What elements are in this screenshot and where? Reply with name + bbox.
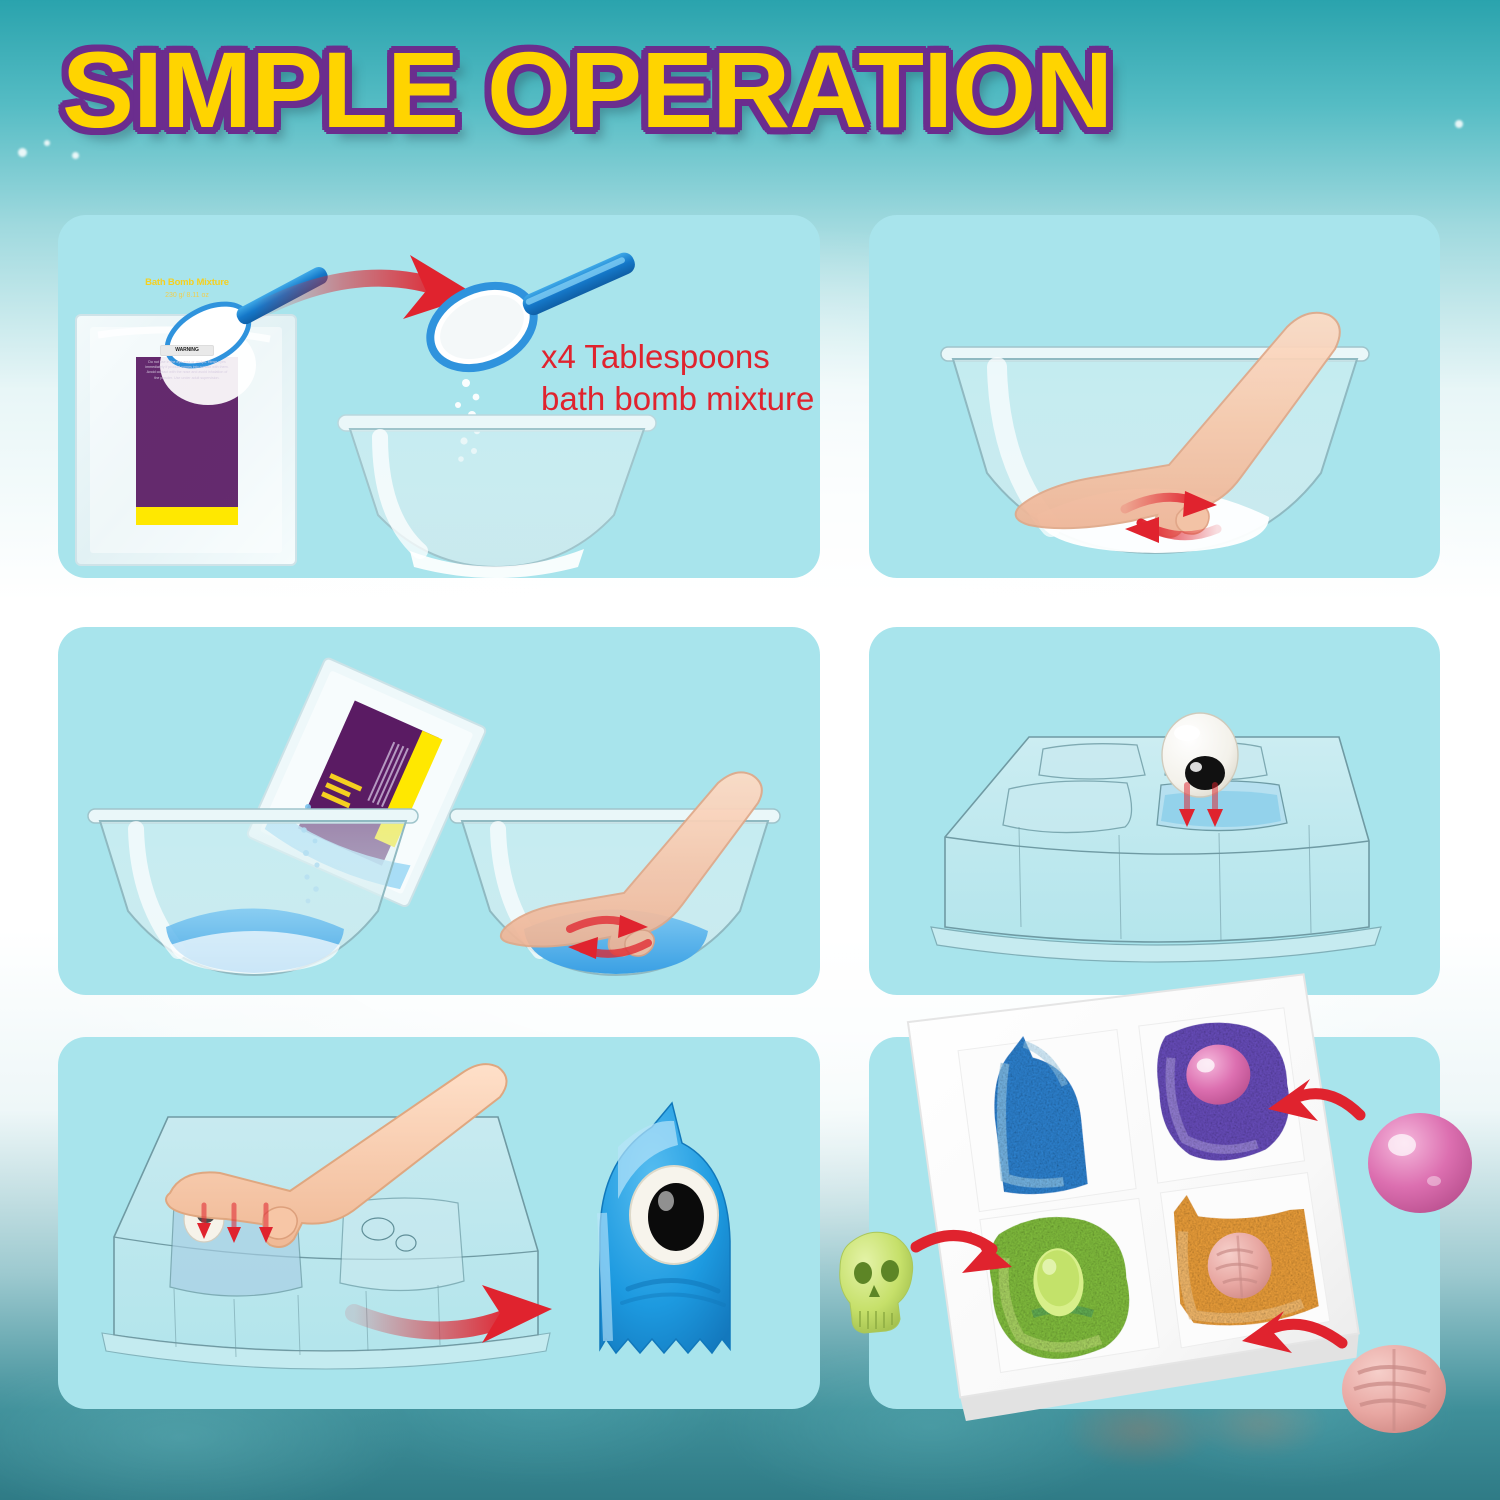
page-title: SIMPLE OPERATION <box>62 36 1112 144</box>
panel-all-in: All in <box>58 627 820 995</box>
callout-tablespoons: x4 Tablespoons bath bomb mixture <box>541 336 814 420</box>
glass-bowl-left <box>88 809 418 975</box>
cavity-skull <box>1039 744 1145 779</box>
infographic-canvas: SIMPLE OPERATION <box>0 0 1500 1500</box>
panel-eyeball: Eyeball <box>869 627 1440 995</box>
brain-toy <box>1342 1345 1446 1433</box>
panel-mix-quickly: Quickly <box>869 215 1440 578</box>
finished-mold-photo <box>830 975 1490 1445</box>
sparkle-icon <box>44 140 50 146</box>
panel3-illustration <box>58 627 820 995</box>
panel4-illustration <box>869 627 1440 995</box>
panel-press-and-release <box>58 1037 820 1409</box>
blue-monster-bath-bomb <box>600 1103 730 1353</box>
glass-bowl <box>338 415 656 578</box>
sparkle-icon <box>1455 120 1463 128</box>
callout-line-2: bath bomb mixture <box>541 378 814 420</box>
eyeball-icon <box>1162 713 1238 797</box>
cavity-brain <box>1003 781 1132 833</box>
skull-toy <box>840 1232 913 1333</box>
panel2-illustration <box>869 215 1440 578</box>
cavity-empty <box>340 1198 464 1291</box>
callout-line-1: x4 Tablespoons <box>541 336 814 378</box>
pink-eyeball-toy <box>1368 1113 1472 1213</box>
mold-tray <box>931 737 1381 962</box>
panel5-illustration <box>58 1037 820 1409</box>
panel-scoop-powder: x4 Tablespoons bath bomb mixture Bath Bo… <box>58 215 820 578</box>
sparkle-icon <box>72 152 79 159</box>
sparkle-icon <box>18 148 27 157</box>
